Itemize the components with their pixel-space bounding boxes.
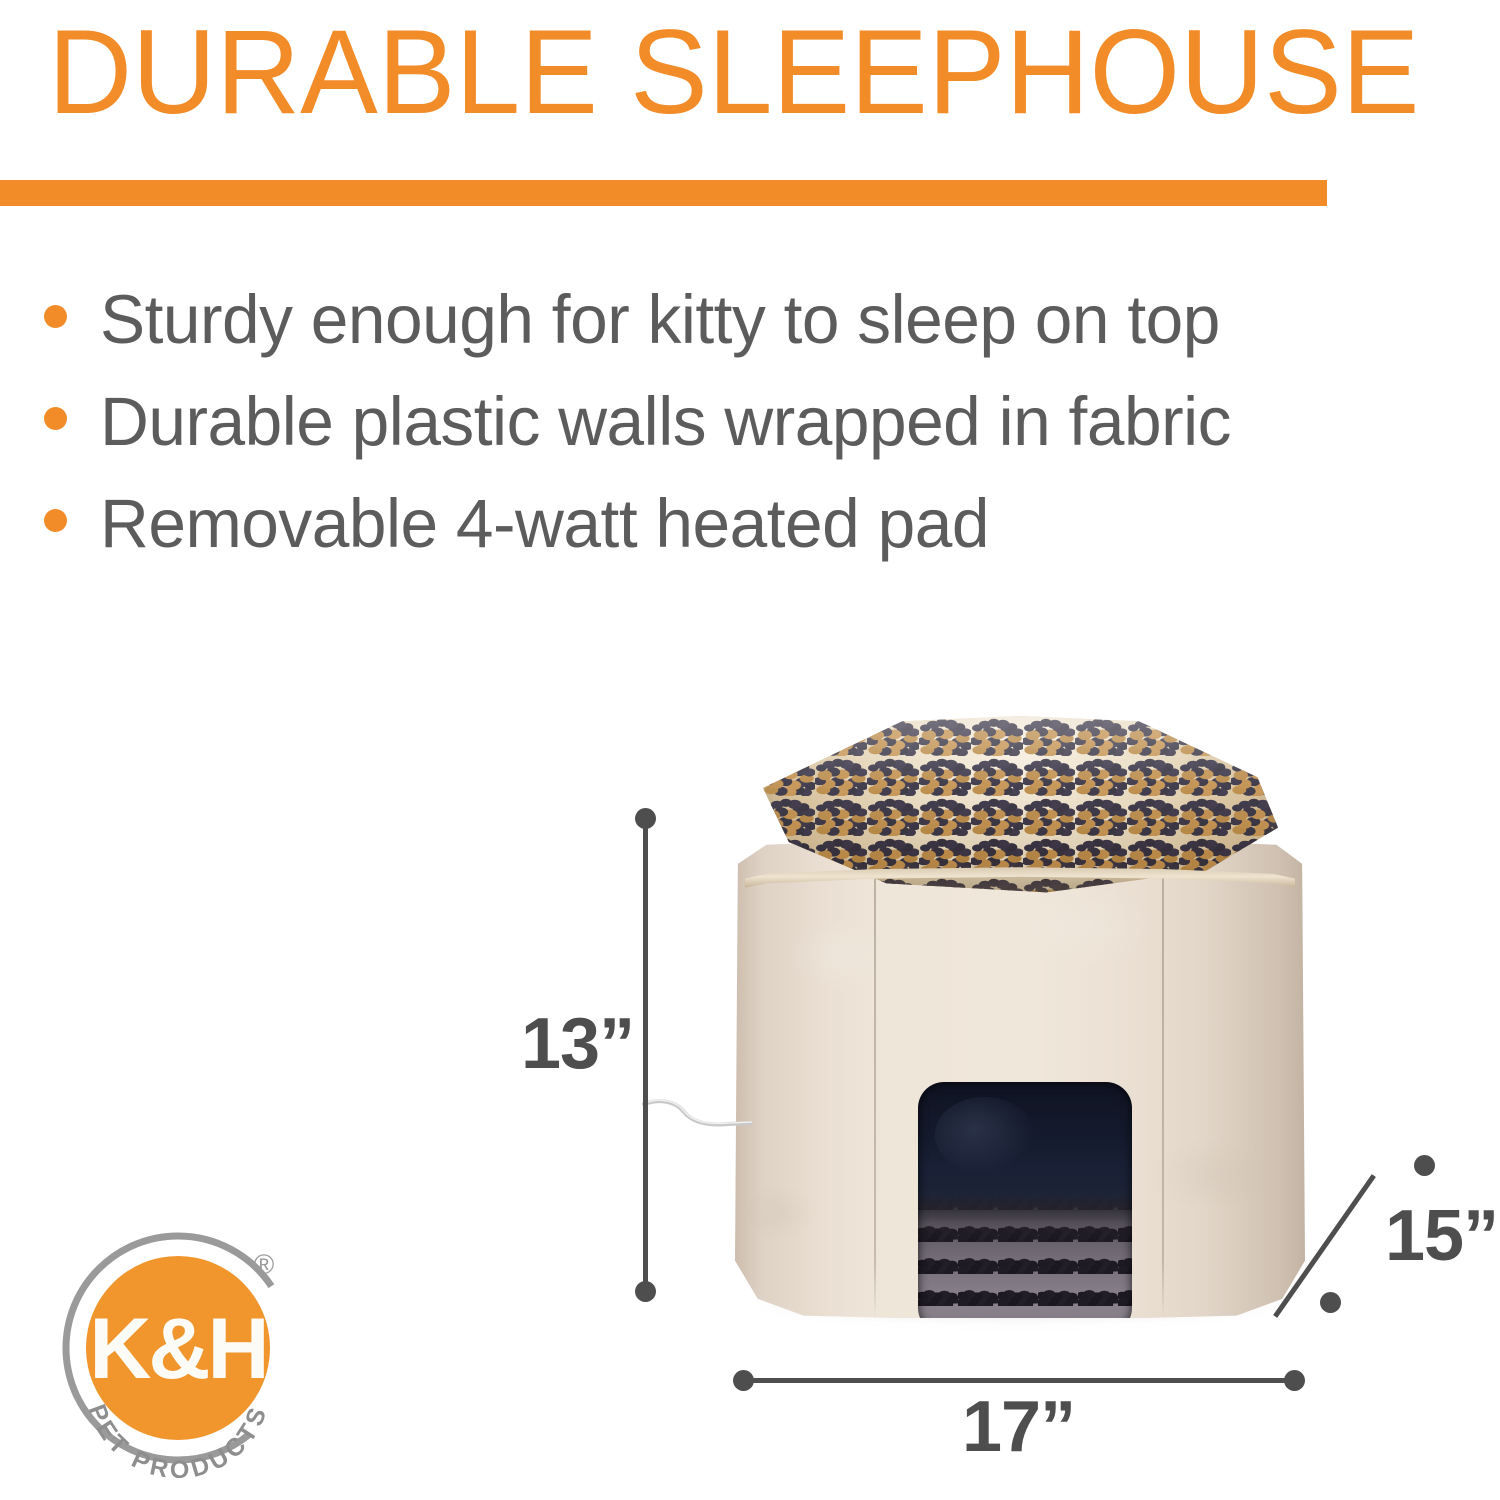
bullet-dot-icon bbox=[44, 509, 67, 532]
depth-dimension-label: 15” bbox=[1385, 1195, 1498, 1277]
feature-bullet-list: Sturdy enough for kitty to sleep on top … bbox=[44, 272, 1264, 578]
height-dimension-endpoint-top bbox=[635, 808, 656, 829]
doorway-highlight bbox=[935, 1097, 1033, 1173]
sleephouse-body bbox=[735, 840, 1305, 1318]
registered-trademark-icon: ® bbox=[254, 1249, 275, 1280]
depth-dimension-endpoint-top bbox=[1414, 1155, 1435, 1176]
height-dimension-line bbox=[643, 818, 648, 1291]
depth-dimension-endpoint-bottom bbox=[1320, 1292, 1341, 1313]
panel-seam-right bbox=[1162, 840, 1164, 1318]
feature-text: Sturdy enough for kitty to sleep on top bbox=[100, 272, 1220, 368]
title-divider-bar bbox=[0, 180, 1327, 206]
height-dimension-endpoint-bottom bbox=[635, 1281, 656, 1302]
list-item: Sturdy enough for kitty to sleep on top bbox=[44, 272, 1264, 368]
kh-pet-products-logo: K&H ® PET PRODUCTS bbox=[52, 1226, 304, 1478]
power-cord bbox=[642, 1076, 752, 1146]
page-title: DURABLE SLEEPHOUSE bbox=[48, 12, 1419, 132]
feature-text: Removable 4-watt heated pad bbox=[100, 476, 989, 572]
feature-text: Durable plastic walls wrapped in fabric bbox=[100, 374, 1231, 470]
width-dimension-line bbox=[742, 1378, 1293, 1383]
height-dimension-label: 13” bbox=[521, 1003, 634, 1085]
list-item: Durable plastic walls wrapped in fabric bbox=[44, 374, 1264, 470]
width-dimension-label: 17” bbox=[962, 1386, 1075, 1468]
logo-wordmark: K&H bbox=[89, 1301, 266, 1397]
bullet-dot-icon bbox=[44, 407, 67, 430]
width-dimension-endpoint-right bbox=[1284, 1370, 1305, 1391]
sleephouse-doorway bbox=[918, 1082, 1132, 1334]
bullet-dot-icon bbox=[44, 305, 67, 328]
panel-seam-left bbox=[874, 840, 876, 1318]
list-item: Removable 4-watt heated pad bbox=[44, 476, 1264, 572]
width-dimension-endpoint-left bbox=[733, 1370, 754, 1391]
product-image bbox=[735, 716, 1305, 1316]
